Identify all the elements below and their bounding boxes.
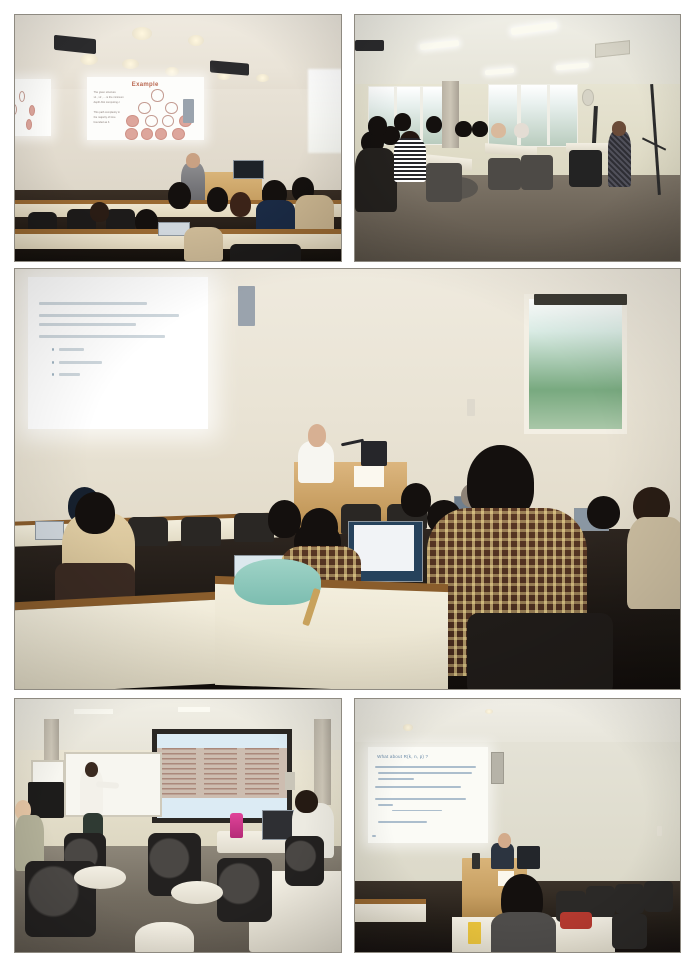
presenter-head (612, 121, 627, 136)
foreground-student-body (491, 912, 556, 952)
tree-node-leaf (29, 105, 35, 116)
chair (521, 155, 554, 189)
downlight-4 (122, 59, 138, 69)
tree-node (138, 102, 151, 114)
cart-base (569, 150, 602, 187)
structural-pillar (442, 81, 458, 147)
slide-line (378, 772, 472, 774)
side-desk (355, 901, 427, 921)
code-column-2 (204, 748, 238, 796)
laptop-display (354, 525, 414, 571)
slide-line-equation (392, 810, 443, 812)
slide-body-line-3: depth-first computing c (94, 101, 134, 105)
slide-line (59, 361, 102, 364)
projection-screen: What about R(k, n, p) ? (368, 747, 488, 843)
tree-node-leaf (126, 115, 139, 127)
desk-row-1 (15, 600, 215, 689)
lecturer-head (308, 424, 327, 447)
window-mullion (547, 84, 550, 146)
wall-outlet (657, 826, 662, 836)
water-bottle (230, 813, 243, 838)
tree-node-leaf (125, 128, 138, 140)
slide-line (39, 323, 136, 326)
attendee-head (394, 113, 412, 130)
tree-node (145, 115, 158, 127)
chair (217, 858, 272, 921)
student-laptop (35, 521, 64, 540)
photo-top-right[interactable] (354, 14, 682, 262)
lecturer-body (298, 441, 335, 483)
student-head (168, 182, 191, 209)
chair (612, 914, 648, 949)
slide-line (378, 778, 414, 780)
slide-bullet (52, 361, 55, 364)
collage-row-middle (14, 268, 681, 690)
student-head (587, 496, 620, 530)
collage-row-top: Example The given structure x1 , x2 , ..… (14, 14, 681, 262)
ceiling-light (74, 709, 113, 714)
downlight-7 (256, 74, 269, 82)
downlight-5 (165, 67, 180, 76)
student-head (90, 202, 110, 222)
display-title-bar (157, 734, 287, 747)
tree-node (19, 91, 25, 102)
wall-speaker-grille (238, 286, 255, 326)
teal-umbrella (234, 559, 320, 605)
presenter-body (608, 131, 631, 188)
stool-seat (135, 922, 194, 952)
slide-line (378, 804, 392, 806)
lecture-hall-scene: Example The given structure x1 , x2 , ..… (15, 15, 341, 261)
slide-line (39, 302, 147, 305)
window-glare (308, 69, 341, 153)
wall-speaker-grille (183, 99, 194, 124)
tree-node-leaf (172, 128, 185, 140)
presenter-head (498, 833, 511, 848)
wall-speaker-grille (582, 89, 594, 106)
student-body (627, 517, 680, 609)
attendee-head (426, 116, 442, 133)
desktop-monitor (28, 782, 64, 817)
student-head (401, 483, 431, 517)
photo-bottom-left[interactable] (14, 698, 342, 953)
chair (426, 163, 462, 202)
window (524, 294, 627, 434)
photo-bottom-right[interactable]: What about R(k, n, p) ? (354, 698, 682, 953)
instructor-head (85, 762, 98, 777)
slide-line (375, 766, 476, 768)
code-column-3 (245, 748, 279, 796)
wall-speaker-grille (285, 772, 295, 790)
structural-pillar (314, 719, 330, 805)
ceiling (355, 15, 681, 89)
chair-seat (171, 881, 223, 904)
tree-root-node (151, 89, 164, 101)
window-blind (534, 294, 627, 305)
photo-top-left[interactable]: Example The given structure x1 , x2 , ..… (14, 14, 342, 262)
student-head (295, 790, 318, 813)
chair (644, 881, 673, 911)
attendee-head (514, 123, 529, 138)
presenter-head (186, 153, 200, 168)
projection-screen (28, 277, 208, 428)
photo-middle[interactable] (14, 268, 681, 690)
attendee-head (455, 121, 471, 137)
thermostat (467, 399, 475, 416)
tree-node (15, 104, 17, 115)
slide-bullet (52, 373, 55, 376)
wall-speaker-grille (491, 752, 504, 784)
chair-back-foreground (467, 613, 613, 689)
attendee-head (472, 121, 488, 137)
ceiling-fixture (403, 724, 413, 730)
slide-line (59, 373, 81, 376)
code-column-1 (162, 748, 196, 796)
student-head (207, 187, 228, 212)
slide-line (375, 798, 467, 800)
slide-body-line-2: x1 , x2 , ... is the minimum (94, 96, 134, 100)
thermos (472, 853, 480, 868)
slide-line (39, 314, 179, 317)
podium-name-card (354, 466, 384, 487)
tree-node-leaf (155, 128, 168, 140)
tree-node-leaf (26, 119, 32, 130)
student-body (184, 227, 223, 261)
tree-node-leaf (141, 128, 154, 140)
window-right (488, 84, 578, 148)
ceiling-light (178, 707, 211, 712)
chair (488, 158, 521, 190)
attendee-body (394, 138, 427, 182)
lecture-room-scene: What about R(k, n, p) ? (355, 699, 681, 952)
whiteboard-room-scene (15, 699, 341, 952)
ceiling-projector (355, 40, 384, 51)
slide-page-number (372, 835, 376, 837)
attendee-head (368, 116, 388, 136)
slide-line (378, 821, 426, 823)
photo-collage: Example The given structure x1 , x2 , ..… (0, 0, 695, 963)
slide-line (375, 786, 462, 788)
collage-row-bottom: What about R(k, n, p) ? (14, 698, 681, 953)
podium-monitor (517, 846, 540, 869)
slide-bullet (52, 348, 55, 351)
window-mullion (420, 86, 423, 143)
yellow-cup (468, 922, 481, 945)
slide-line (59, 348, 84, 351)
chair-seat (74, 866, 126, 889)
chair (615, 884, 644, 914)
seminar-room-scene (355, 15, 681, 261)
attendee-head (491, 123, 506, 138)
tree-node (162, 115, 175, 127)
classroom-scene (15, 269, 680, 689)
slide-body-line-1: The given structure (94, 91, 134, 95)
downlight-2 (188, 35, 204, 46)
slide-title: What about R(k, n, p) ? (377, 754, 428, 759)
wall-display (152, 729, 292, 822)
slide-title: Example (87, 82, 204, 88)
desk-edge (355, 899, 427, 904)
ceiling-fixture (485, 709, 493, 714)
chair (285, 836, 324, 887)
student-head (75, 492, 115, 534)
chair-back (230, 244, 302, 261)
downlight-1 (132, 27, 152, 39)
podium-monitor (233, 160, 264, 179)
chair-back (181, 517, 221, 546)
projection-screen-left (15, 79, 51, 136)
attendee-body (355, 148, 397, 212)
slide-line (39, 335, 165, 338)
student-head (230, 192, 251, 217)
backpack (560, 912, 593, 930)
slide-body-line-5: This path complexity in (94, 111, 134, 115)
tree-node (165, 102, 178, 114)
podium-monitor (361, 441, 388, 466)
